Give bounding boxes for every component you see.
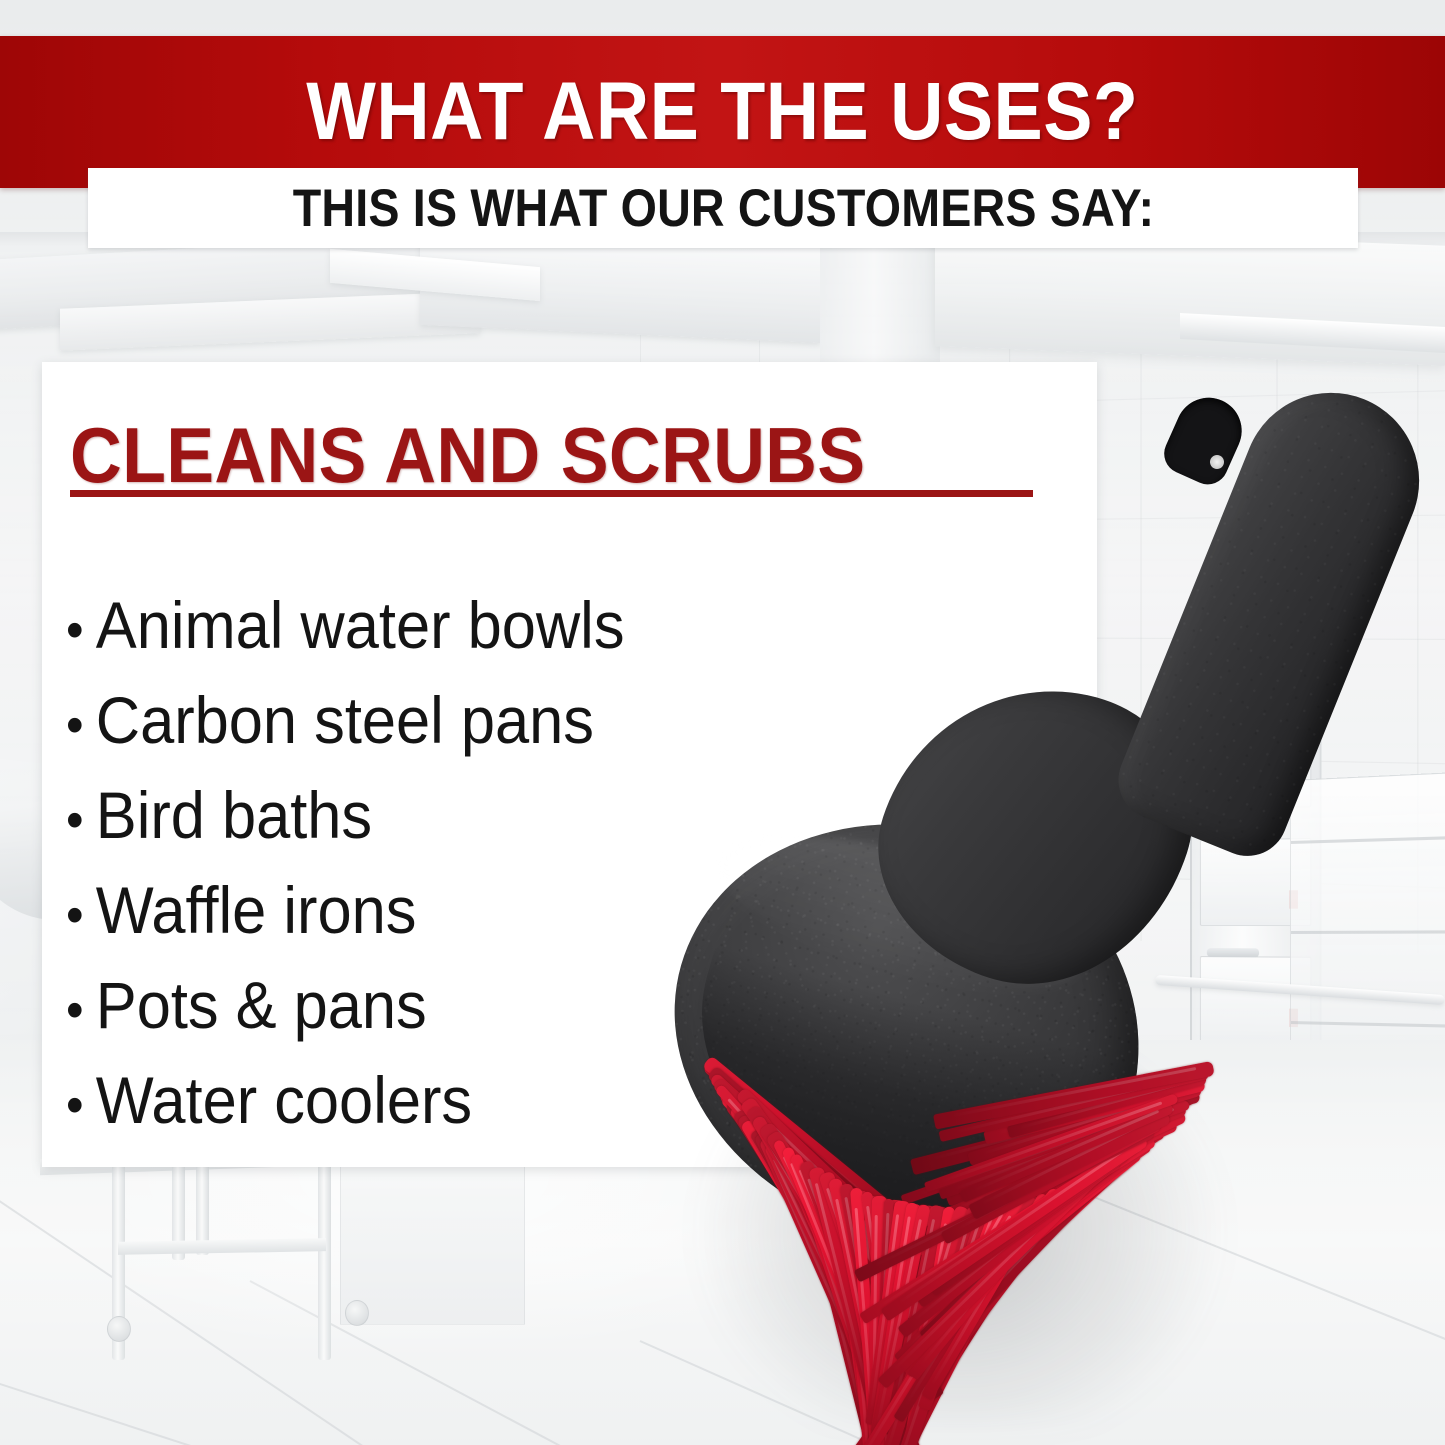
subheadline-text: THIS IS WHAT OUR CUSTOMERS SAY:: [292, 178, 1153, 239]
list-item: • Pots & pans: [66, 960, 996, 1055]
product-infographic-canvas: WHAT ARE THE USES? THIS IS WHAT OUR CUST…: [0, 0, 1445, 1445]
prep-table-leg: [318, 1162, 331, 1360]
rack-door-handle: [1207, 831, 1259, 841]
card-heading: CLEANS AND SCRUBS: [70, 410, 865, 501]
shelf-level: [1291, 836, 1445, 844]
subheadline-banner: THIS IS WHAT OUR CUSTOMERS SAY:: [88, 168, 1358, 248]
bullet-icon: •: [66, 585, 96, 675]
shelf-level: [1291, 930, 1445, 934]
list-item: • Water coolers: [66, 1055, 996, 1150]
rack-door-handle: [1207, 948, 1259, 957]
floor-cabinet: [340, 1145, 525, 1325]
rack-door-handle: [1207, 713, 1259, 724]
list-item: • Carbon steel pans: [66, 675, 996, 770]
list-item-label: Waffle irons: [96, 865, 417, 955]
bullet-icon: •: [66, 680, 96, 770]
list-item: • Waffle irons: [66, 865, 996, 960]
floor-grout-line: [980, 1150, 1445, 1392]
table-caster: [107, 1316, 131, 1342]
uses-bullet-list: • Animal water bowls • Carbon steel pans…: [66, 580, 1066, 1150]
list-item-label: Animal water bowls: [96, 580, 625, 670]
uses-card: CLEANS AND SCRUBS • Animal water bowls •…: [42, 362, 1097, 1167]
card-heading-underline: [70, 490, 1033, 497]
list-item: • Bird baths: [66, 770, 996, 865]
table-caster: [345, 1300, 369, 1326]
list-item-label: Pots & pans: [96, 960, 427, 1050]
headline-text: WHAT ARE THE USES?: [306, 65, 1138, 159]
bullet-icon: •: [66, 870, 96, 960]
list-item-label: Carbon steel pans: [96, 675, 594, 765]
headline-banner: WHAT ARE THE USES?: [0, 36, 1445, 188]
shelf-level: [1291, 1021, 1445, 1028]
list-item-label: Water coolers: [96, 1055, 472, 1145]
bullet-icon: •: [66, 965, 96, 1055]
bullet-icon: •: [66, 1060, 96, 1150]
list-item-label: Bird baths: [96, 770, 372, 860]
floor-grout-line: [0, 1370, 474, 1445]
ceiling-column: [820, 232, 940, 362]
bullet-icon: •: [66, 775, 96, 865]
list-item: • Animal water bowls: [66, 580, 996, 675]
